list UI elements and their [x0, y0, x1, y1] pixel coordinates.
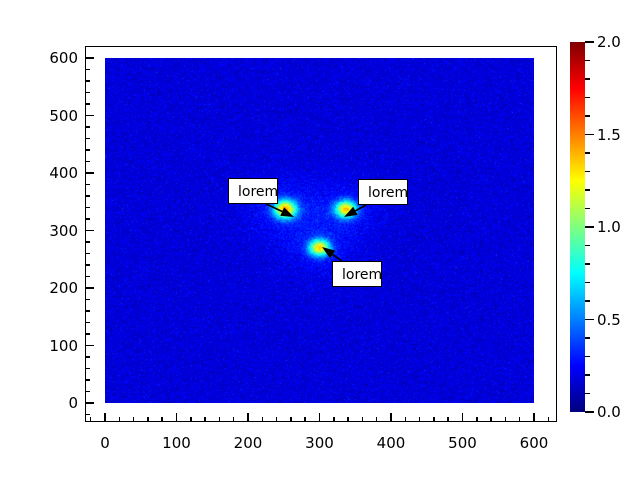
y-ticklabel: 400	[49, 164, 78, 182]
colorbar-ticklabel: 1.5	[597, 126, 621, 144]
x-tick	[319, 413, 321, 422]
annotation-label-2: lorem	[358, 179, 408, 205]
y-tick	[85, 126, 90, 128]
y-tick	[85, 161, 90, 163]
x-tick	[533, 413, 535, 422]
x-tick	[204, 417, 206, 422]
x-ticklabel: 500	[448, 434, 477, 452]
colorbar-ticklabel: 1.0	[597, 218, 621, 236]
x-tick	[147, 417, 149, 422]
x-tick	[119, 417, 121, 422]
y-tick	[85, 80, 90, 82]
x-tick	[362, 417, 364, 422]
x-tick	[290, 417, 292, 422]
x-tick	[447, 417, 449, 422]
colorbar-tick	[585, 189, 590, 191]
y-tick	[85, 92, 90, 94]
colorbar-tick	[585, 245, 590, 247]
x-tick	[476, 417, 478, 422]
y-tick	[85, 333, 90, 335]
y-tick	[85, 218, 90, 220]
colorbar-tick	[585, 300, 590, 302]
colorbar-tick	[585, 337, 590, 339]
colorbar-ticklabel: 0.5	[597, 311, 621, 329]
y-tick	[85, 356, 90, 358]
y-tick	[85, 264, 90, 266]
x-tick	[462, 413, 464, 422]
x-ticklabel: 600	[520, 434, 549, 452]
y-tick	[85, 322, 90, 324]
x-ticklabel: 200	[234, 434, 263, 452]
colorbar-tick	[585, 226, 594, 228]
colorbar-tick	[585, 319, 594, 321]
figure-canvas: 0100200300400500600 0100200300400500600 …	[0, 0, 640, 480]
annotation-label-1: lorem	[228, 178, 278, 204]
y-tick	[85, 310, 90, 312]
colorbar-tick	[585, 152, 590, 154]
x-tick	[190, 417, 192, 422]
x-tick	[505, 417, 507, 422]
x-tick	[376, 417, 378, 422]
y-tick	[85, 299, 90, 301]
y-tick	[85, 241, 90, 243]
colorbar-tick	[585, 263, 590, 265]
x-tick	[161, 417, 163, 422]
x-ticklabel: 100	[162, 434, 191, 452]
heatmap-image	[105, 58, 534, 403]
x-tick	[90, 417, 92, 422]
x-tick	[276, 417, 278, 422]
colorbar-tick	[585, 208, 590, 210]
y-tick	[85, 276, 90, 278]
x-tick	[233, 417, 235, 422]
y-tick	[85, 103, 90, 105]
y-tick	[85, 391, 90, 393]
y-tick	[85, 195, 90, 197]
colorbar-gradient	[570, 42, 585, 412]
colorbar-tick	[585, 41, 594, 43]
colorbar-ticklabel: 0.0	[597, 403, 621, 421]
colorbar	[570, 42, 585, 412]
y-tick	[85, 69, 90, 71]
x-tick	[347, 417, 349, 422]
x-tick	[176, 413, 178, 422]
y-tick	[85, 46, 90, 48]
x-tick	[548, 417, 550, 422]
colorbar-tick	[585, 60, 590, 62]
y-tick	[85, 57, 94, 59]
y-tick	[85, 379, 90, 381]
annotation-label-3: lorem	[332, 261, 382, 287]
x-tick	[405, 417, 407, 422]
y-ticklabel: 500	[49, 107, 78, 125]
colorbar-tick	[585, 171, 590, 173]
x-tick	[219, 417, 221, 422]
y-tick	[85, 368, 90, 370]
colorbar-tick	[585, 134, 594, 136]
x-ticklabel: 400	[377, 434, 406, 452]
y-tick	[85, 149, 90, 151]
y-tick	[85, 402, 94, 404]
x-tick	[390, 413, 392, 422]
colorbar-tick	[585, 97, 590, 99]
colorbar-tick	[585, 411, 594, 413]
colorbar-tick	[585, 282, 590, 284]
colorbar-tick	[585, 356, 590, 358]
y-tick	[85, 184, 90, 186]
y-ticklabel: 600	[49, 49, 78, 67]
y-tick	[85, 138, 90, 140]
y-tick	[85, 172, 94, 174]
colorbar-tick	[585, 393, 590, 395]
y-tick	[85, 345, 94, 347]
colorbar-tick	[585, 115, 590, 117]
x-tick	[262, 417, 264, 422]
y-tick	[85, 207, 90, 209]
y-ticklabel: 0	[68, 394, 78, 412]
y-tick	[85, 287, 94, 289]
x-tick	[433, 417, 435, 422]
y-tick	[85, 414, 90, 416]
x-tick	[419, 417, 421, 422]
x-tick	[104, 413, 106, 422]
y-ticklabel: 100	[49, 337, 78, 355]
x-tick	[490, 417, 492, 422]
y-tick	[85, 115, 94, 117]
colorbar-tick	[585, 374, 590, 376]
y-ticklabel: 300	[49, 222, 78, 240]
x-tick	[247, 413, 249, 422]
colorbar-ticklabel: 2.0	[597, 33, 621, 51]
x-tick	[304, 417, 306, 422]
colorbar-tick	[585, 78, 590, 80]
y-tick	[85, 253, 90, 255]
x-tick	[133, 417, 135, 422]
x-ticklabel: 0	[100, 434, 110, 452]
x-ticklabel: 300	[305, 434, 334, 452]
x-tick	[333, 417, 335, 422]
x-tick	[519, 417, 521, 422]
y-ticklabel: 200	[49, 279, 78, 297]
y-tick	[85, 230, 94, 232]
